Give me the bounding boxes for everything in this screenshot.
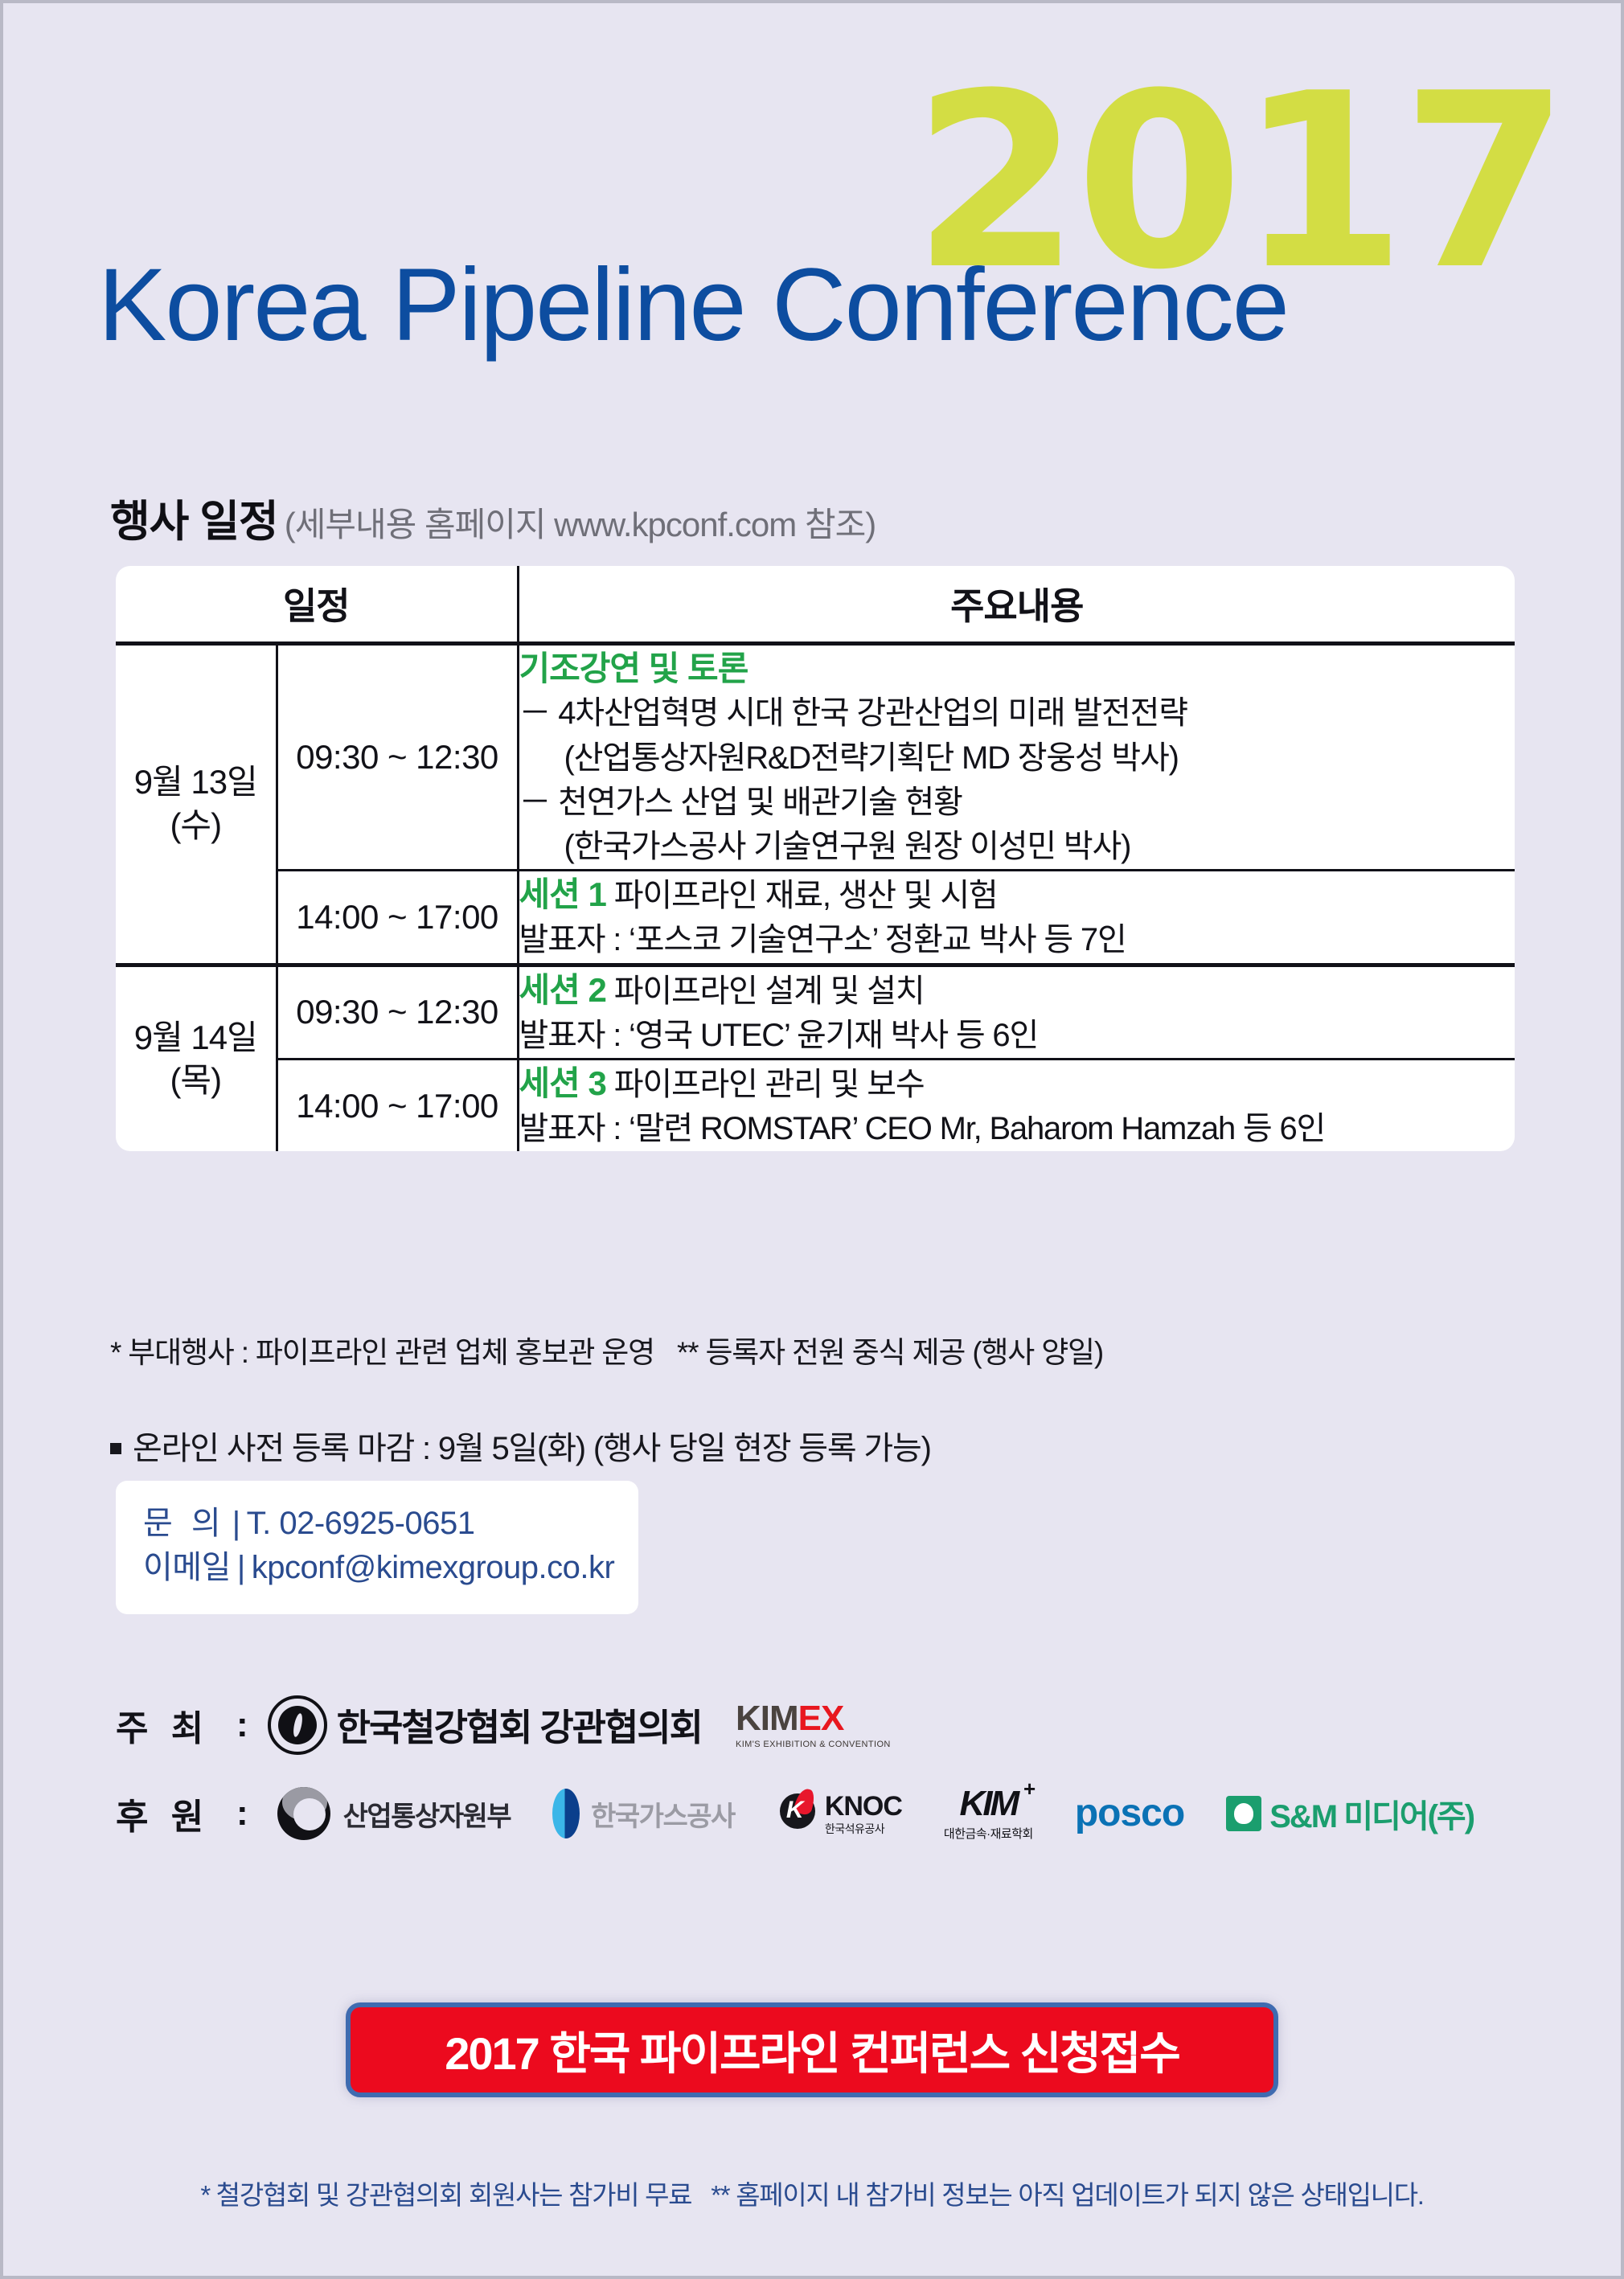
sponsors-row: 후 원 : 산업통상자원부 한국가스공사 K KNOC 한국석유공사 bbox=[116, 1777, 1474, 1851]
contact-separator: | bbox=[231, 1550, 252, 1585]
topic-subtitle: 파이프라인 설계 및 설치 bbox=[614, 973, 925, 1009]
note-lunch: ** 등록자 전원 중식 제공 (행사 양일) bbox=[677, 1336, 1103, 1369]
table-row: 14:00 ~ 17:00 세션 3 파이프라인 관리 및 보수 발표자 : ‘… bbox=[116, 1059, 1515, 1151]
registration-deadline-text: 온라인 사전 등록 마감 : 9월 5일(화) (행사 당일 현장 등록 가능) bbox=[133, 1431, 931, 1466]
topic-line: － 천연가스 산업 및 배관기술 현황 bbox=[519, 781, 1515, 825]
presenter-line: 발표자 : ‘말련 ROMSTAR’ CEO Mr, Baharom Hamza… bbox=[519, 1107, 1515, 1151]
contact-email-label: 이메일 bbox=[143, 1550, 231, 1585]
topic-title: 세션 2 bbox=[519, 971, 606, 1009]
table-row: 14:00 ~ 17:00 세션 1 파이프라인 재료, 생산 및 시험 발표자… bbox=[116, 871, 1515, 965]
topic-title: 세션 1 bbox=[519, 875, 606, 913]
time-cell: 09:30 ~ 12:30 bbox=[277, 965, 518, 1059]
host-colon: : bbox=[236, 1705, 248, 1745]
note-side-event: * 부대행사 : 파이프라인 관련 업체 홍보관 운영 bbox=[110, 1336, 654, 1369]
kim-logo-icon: KIM+ 대한금속·재료학회 bbox=[944, 1786, 1033, 1842]
contact-phone-row: 문 의|T. 02-6925-0651 bbox=[143, 1502, 611, 1546]
host-name: 한국철강협회 강관협의회 bbox=[337, 1699, 702, 1752]
sponsor-knoc: K KNOC 한국석유공사 bbox=[777, 1790, 902, 1837]
knoc-text-block: KNOC 한국석유공사 bbox=[825, 1791, 902, 1837]
date-line-2: (수) bbox=[116, 804, 276, 847]
topic-line: (산업통상자원R&D전략기획단 MD 장웅성 박사) bbox=[519, 736, 1515, 781]
poster-header: 2017 Korea Pipeline Conference bbox=[3, 3, 1621, 437]
knoc-flame-icon: K bbox=[777, 1790, 818, 1837]
table-header-row: 일정 주요내용 bbox=[116, 566, 1515, 643]
schedule-section-heading: 행사 일정(세부내용 홈페이지 www.kpconf.com 참조) bbox=[110, 486, 876, 549]
sponsor-colon: : bbox=[236, 1793, 248, 1834]
topic-cell: 세션 3 파이프라인 관리 및 보수 발표자 : ‘말련 ROMSTAR’ CE… bbox=[518, 1059, 1515, 1151]
topic-subtitle: 파이프라인 재료, 생산 및 시험 bbox=[614, 878, 998, 913]
contact-box: 문 의|T. 02-6925-0651 이메일|kpconf@kimexgrou… bbox=[116, 1481, 638, 1614]
host-label: 주 최 bbox=[116, 1699, 236, 1751]
organizers-block: 주 최 : 한국철강협회 강관협의회 KIMEX KIM'S EXHIBITIO… bbox=[116, 1688, 1474, 1851]
topic-title-row: 세션 1 파이프라인 재료, 생산 및 시험 bbox=[519, 871, 1515, 918]
presenter-line: 발표자 : ‘영국 UTEC’ 윤기재 박사 등 6인 bbox=[519, 1014, 1515, 1058]
time-cell: 14:00 ~ 17:00 bbox=[277, 1059, 518, 1151]
schedule-table-container: 일정 주요내용 9월 13일 (수) 09:30 ~ 12:30 기조강연 및 … bbox=[116, 566, 1515, 1151]
date-cell-day2: 9월 14일 (목) bbox=[116, 965, 277, 1151]
date-cell-day1: 9월 13일 (수) bbox=[116, 643, 277, 965]
sponsor-posco: posco bbox=[1075, 1794, 1184, 1833]
footer-note-2: ** 홈페이지 내 참가비 정보는 아직 업데이트가 되지 않은 상태입니다. bbox=[711, 2180, 1423, 2210]
column-header-content: 주요내용 bbox=[518, 566, 1515, 643]
presenter-line: 발표자 : ‘포스코 기술연구소’ 정환교 박사 등 7인 bbox=[519, 918, 1515, 962]
sponsor-label: 후 원 bbox=[116, 1788, 236, 1839]
topic-cell: 세션 2 파이프라인 설계 및 설치 발표자 : ‘영국 UTEC’ 윤기재 박… bbox=[518, 965, 1515, 1059]
topic-title-row: 세션 3 파이프라인 관리 및 보수 bbox=[519, 1060, 1515, 1107]
poster-title: Korea Pipeline Conference bbox=[98, 254, 1288, 357]
contact-email-value[interactable]: kpconf@kimexgroup.co.kr bbox=[252, 1550, 615, 1585]
registration-deadline-note: 온라인 사전 등록 마감 : 9월 5일(화) (행사 당일 현장 등록 가능) bbox=[110, 1422, 931, 1469]
topic-cell: 기조강연 및 토론 － 4차산업혁명 시대 한국 강관산업의 미래 발전전략 (… bbox=[518, 643, 1515, 871]
registration-cta-label: 2017 한국 파이프라인 컨퍼런스 신청접수 bbox=[445, 2018, 1179, 2083]
topic-subtitle: 파이프라인 관리 및 보수 bbox=[614, 1067, 925, 1102]
date-line-2: (목) bbox=[116, 1059, 276, 1102]
footer-note-1: * 철강협회 및 강관협의회 회원사는 참가비 무료 bbox=[200, 2180, 691, 2210]
topic-cell: 세션 1 파이프라인 재료, 생산 및 시험 발표자 : ‘포스코 기술연구소’… bbox=[518, 871, 1515, 965]
contact-separator: | bbox=[226, 1506, 247, 1541]
table-row: 9월 14일 (목) 09:30 ~ 12:30 세션 2 파이프라인 설계 및… bbox=[116, 965, 1515, 1059]
sponsor-sub-name: 대한금속·재료학회 bbox=[944, 1825, 1033, 1842]
posco-wordmark-icon: posco bbox=[1075, 1794, 1184, 1833]
kimex-tagline: KIM'S EXHIBITION & CONVENTION bbox=[736, 1740, 891, 1749]
contact-phone-label: 문 의 bbox=[143, 1506, 226, 1541]
topic-line: (한국가스공사 기술연구원 원장 이성민 박사) bbox=[519, 825, 1515, 869]
date-line-1: 9월 14일 bbox=[116, 1016, 276, 1060]
square-bullet-icon bbox=[110, 1443, 121, 1454]
schedule-table: 일정 주요내용 9월 13일 (수) 09:30 ~ 12:30 기조강연 및 … bbox=[116, 566, 1515, 1151]
date-line-1: 9월 13일 bbox=[116, 760, 276, 804]
sponsor-name: S&M 미디어(주) bbox=[1269, 1790, 1474, 1837]
contact-phone-value[interactable]: T. 02-6925-0651 bbox=[247, 1506, 475, 1541]
kimex-part2: EX bbox=[798, 1699, 844, 1738]
topic-title-row: 세션 2 파이프라인 설계 및 설치 bbox=[519, 967, 1515, 1014]
sponsor-motie: 산업통상자원부 bbox=[277, 1787, 511, 1840]
kimex-wordmark: KIMEX bbox=[736, 1699, 843, 1738]
kim-plus-mark: + bbox=[1023, 1778, 1033, 1799]
kimex-part1: KIM bbox=[736, 1699, 798, 1738]
topic-title: 기조강연 및 토론 bbox=[519, 646, 1515, 692]
kogas-mark-icon bbox=[552, 1789, 580, 1838]
table-row: 9월 13일 (수) 09:30 ~ 12:30 기조강연 및 토론 － 4차산… bbox=[116, 643, 1515, 871]
sponsor-name: 한국가스공사 bbox=[591, 1794, 735, 1834]
motie-taegeuk-icon bbox=[277, 1787, 330, 1840]
schedule-heading-main: 행사 일정 bbox=[110, 498, 278, 546]
topic-title: 세션 3 bbox=[519, 1064, 606, 1102]
footer-notes: * 철강협회 및 강관협의회 회원사는 참가비 무료** 홈페이지 내 참가비 … bbox=[200, 2174, 1423, 2212]
sponsor-sub-name: 한국석유공사 bbox=[825, 1821, 902, 1837]
host-row: 주 최 : 한국철강협회 강관협의회 KIMEX KIM'S EXHIBITIO… bbox=[116, 1688, 1474, 1762]
registration-cta-button[interactable]: 2017 한국 파이프라인 컨퍼런스 신청접수 bbox=[346, 2002, 1278, 2097]
schedule-notes: * 부대행사 : 파이프라인 관련 업체 홍보관 운영** 등록자 전원 중식 … bbox=[110, 1328, 1103, 1371]
kimex-logo-icon: KIMEX KIM'S EXHIBITION & CONVENTION bbox=[736, 1701, 891, 1749]
time-cell: 14:00 ~ 17:00 bbox=[277, 871, 518, 965]
sponsor-name: KIM+ bbox=[960, 1786, 1018, 1822]
contact-email-row: 이메일|kpconf@kimexgroup.co.kr bbox=[143, 1546, 611, 1590]
sm-media-icon bbox=[1226, 1796, 1261, 1831]
sponsor-name: 산업통상자원부 bbox=[343, 1794, 511, 1834]
sponsor-name: KNOC bbox=[825, 1791, 902, 1822]
conference-poster: 2017 Korea Pipeline Conference 행사 일정(세부내… bbox=[0, 0, 1624, 2279]
schedule-heading-sub: (세부내용 홈페이지 www.kpconf.com 참조) bbox=[285, 506, 876, 543]
time-cell: 09:30 ~ 12:30 bbox=[277, 643, 518, 871]
sponsor-kogas: 한국가스공사 bbox=[552, 1789, 735, 1838]
column-header-date: 일정 bbox=[116, 566, 518, 643]
korea-iron-steel-association-seal-icon bbox=[268, 1695, 327, 1755]
sponsor-kim: KIM+ 대한금속·재료학회 bbox=[944, 1786, 1033, 1842]
topic-line: － 4차산업혁명 시대 한국 강관산업의 미래 발전전략 bbox=[519, 691, 1515, 736]
sponsor-sm-media: S&M 미디어(주) bbox=[1226, 1790, 1474, 1837]
